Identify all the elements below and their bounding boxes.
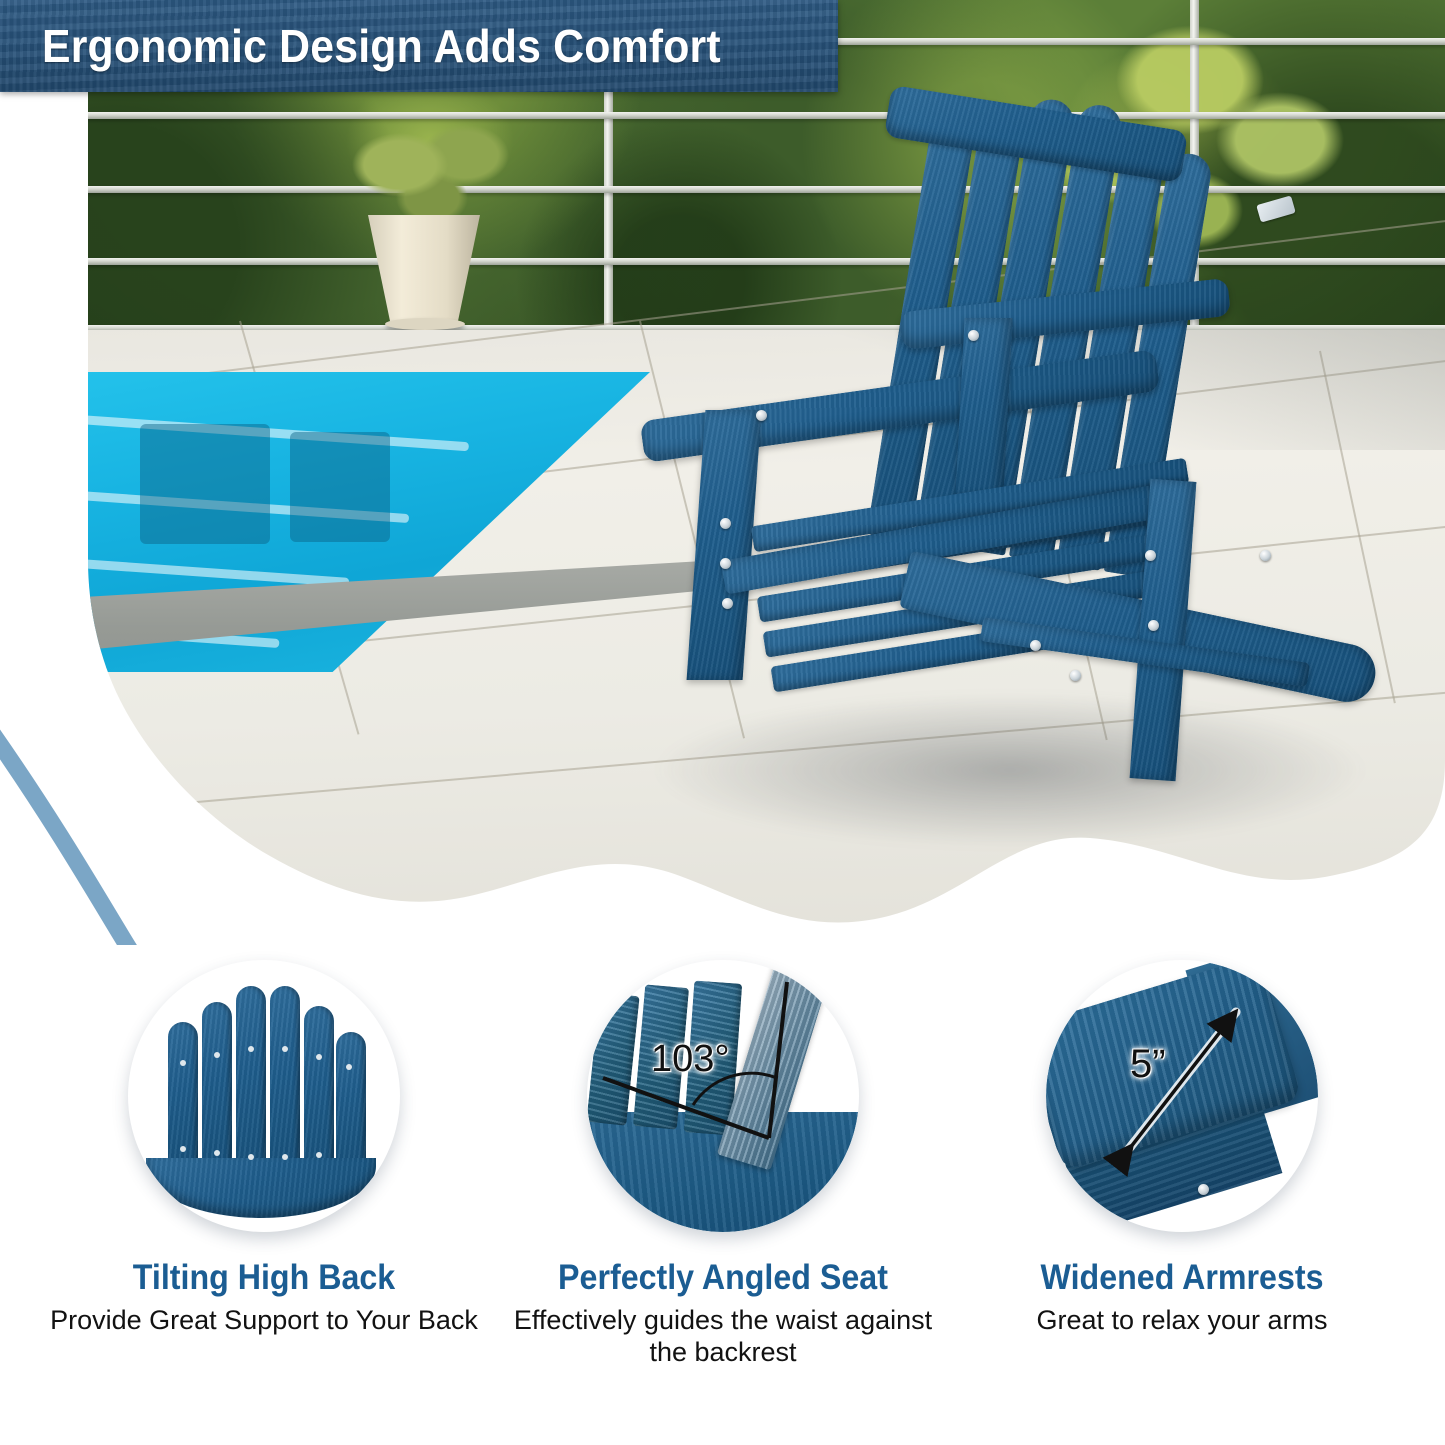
planter-saucer xyxy=(385,318,465,330)
feature-tilting-high-back: Tilting High Back Provide Great Support … xyxy=(23,960,505,1337)
header-banner: Ergonomic Design Adds Comfort xyxy=(0,0,838,92)
feature-image-circle-3: 5” xyxy=(1046,960,1318,1232)
banner-title: Ergonomic Design Adds Comfort xyxy=(42,19,721,73)
feature-title: Tilting High Back xyxy=(42,1258,485,1298)
planter-shrub xyxy=(340,120,520,230)
armrest-width-closeup: 5” xyxy=(1046,960,1318,1232)
feature-title: Perfectly Angled Seat xyxy=(501,1258,944,1298)
feature-description: Great to relax your arms xyxy=(941,1305,1423,1337)
angle-annotation xyxy=(587,960,859,1232)
feature-description: Provide Great Support to Your Back xyxy=(23,1305,505,1337)
hero-photo xyxy=(0,0,1445,945)
angle-value: 103° xyxy=(651,1038,730,1081)
feature-title: Widened Armrests xyxy=(960,1258,1403,1298)
seat-angle-closeup: 103° xyxy=(587,960,859,1232)
feature-image-circle-1 xyxy=(128,960,400,1232)
feature-row: Tilting High Back Provide Great Support … xyxy=(0,960,1445,1445)
width-dimension-arrow xyxy=(1046,960,1318,1232)
feature-image-circle-2: 103° xyxy=(587,960,859,1232)
feature-perfectly-angled-seat: 103° Perfectly Angled Seat Effectively g… xyxy=(482,960,964,1369)
feature-widened-armrests: 5” Widened Armrests Great to relax your … xyxy=(941,960,1423,1337)
chair-backrest-closeup xyxy=(128,960,400,1232)
feature-description: Effectively guides the waist against the… xyxy=(482,1305,964,1369)
product-feature-page: Ergonomic Design Adds Comfort xyxy=(0,0,1445,1445)
width-value: 5” xyxy=(1130,1042,1166,1087)
chair-arm-post-rear xyxy=(955,318,1012,498)
